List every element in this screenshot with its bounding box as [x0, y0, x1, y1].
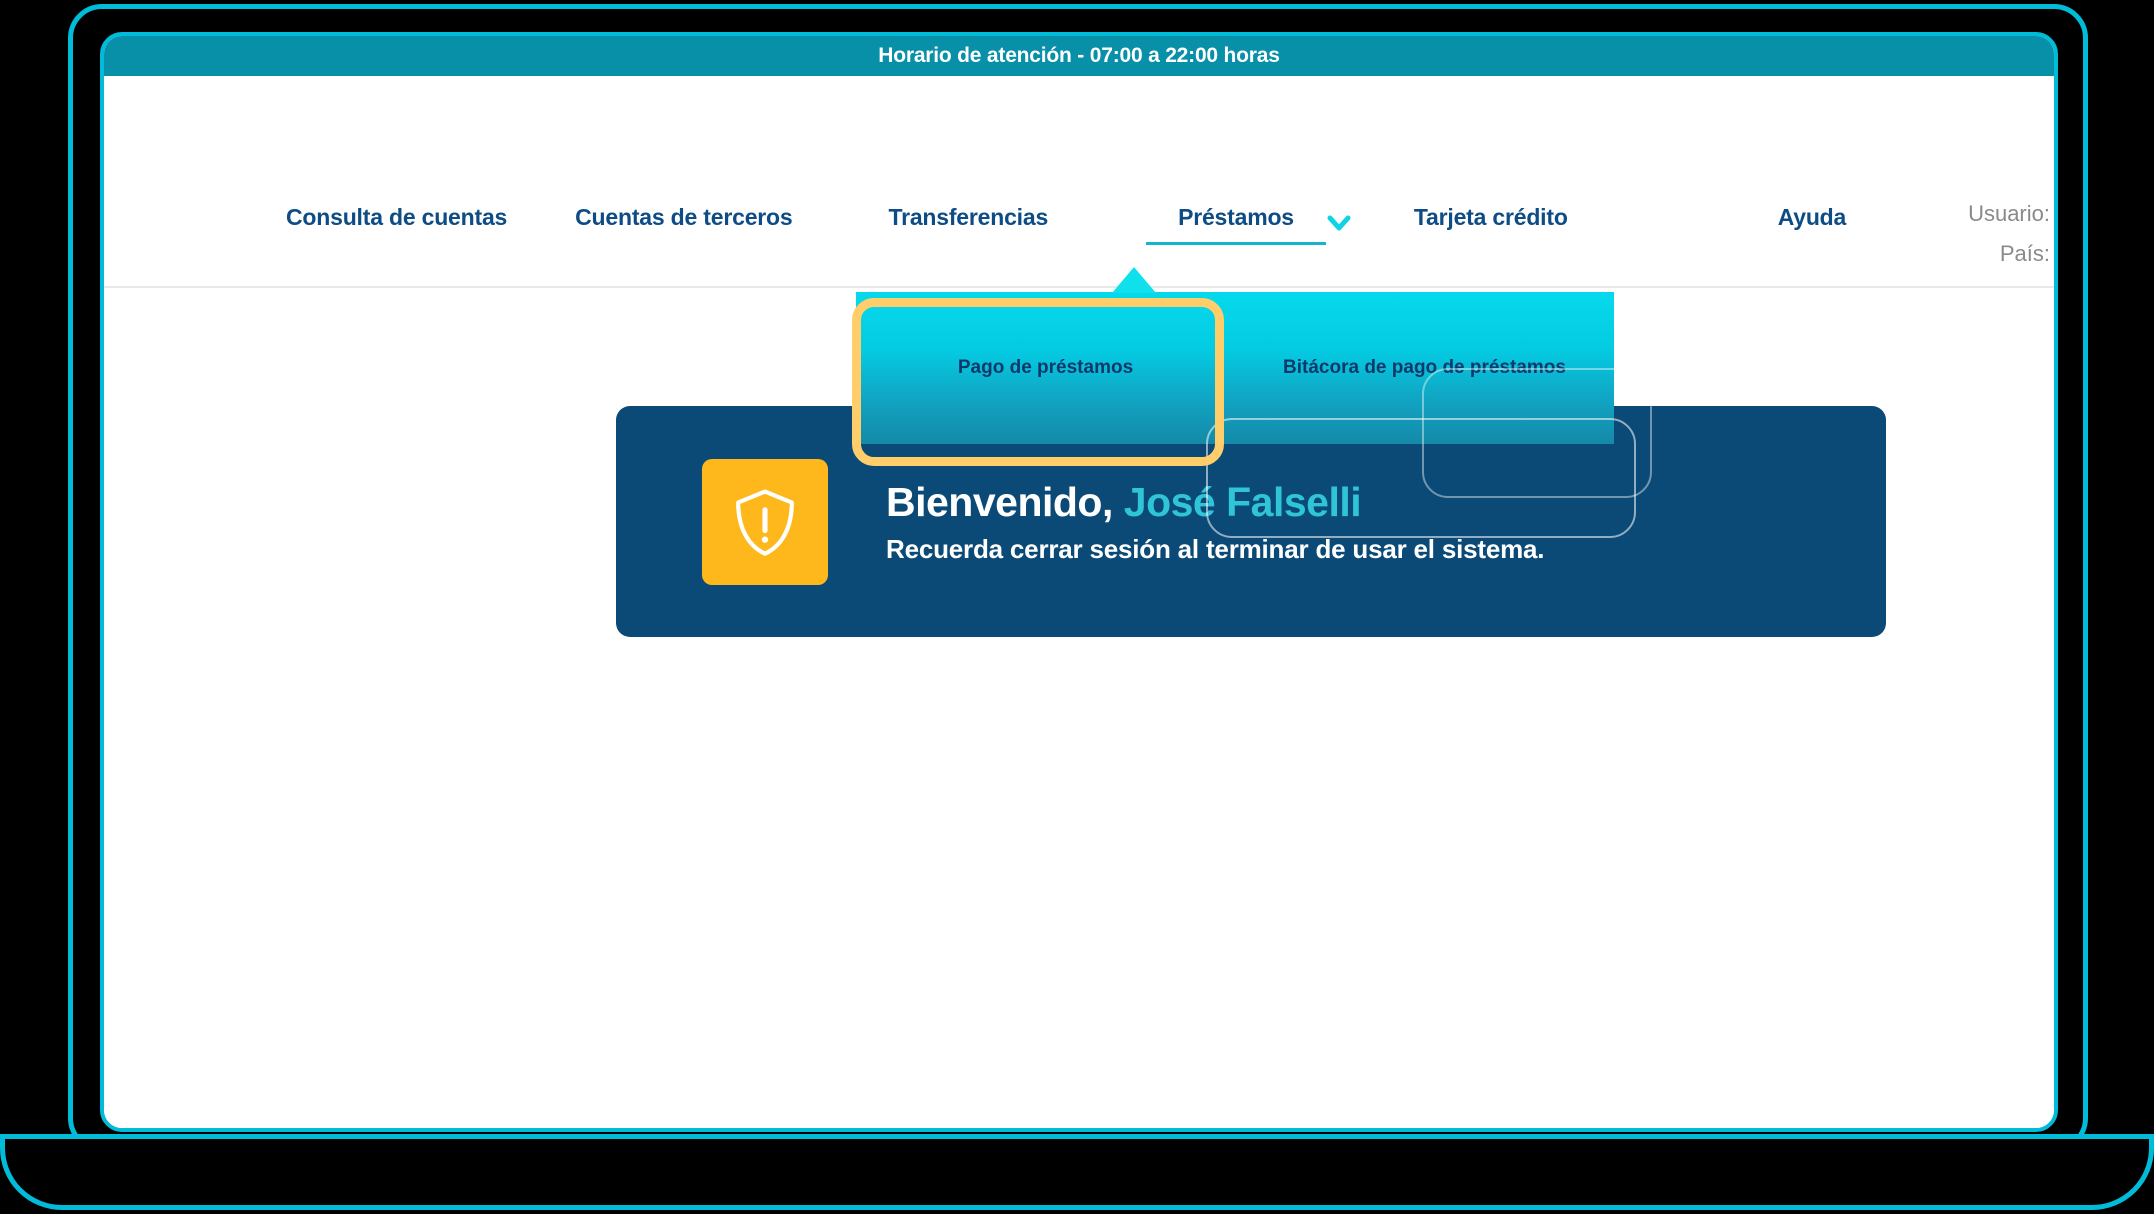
nav-item-ayuda[interactable]: Ayuda	[1778, 204, 1846, 245]
welcome-title: Bienvenido, José Falselli	[886, 479, 1544, 526]
main-navigation: Consulta de cuentas Cuentas de terceros …	[104, 76, 2054, 288]
nav-item-transferencias[interactable]: Transferencias	[888, 204, 1048, 245]
nav-item-tarjeta-credito[interactable]: Tarjeta crédito	[1414, 204, 1568, 245]
user-info: Usuario: País:	[1968, 194, 2050, 274]
schedule-banner: Horario de atención - 07:00 a 22:00 hora…	[104, 36, 2054, 76]
usuario-label: Usuario:	[1968, 194, 2050, 234]
nav-item-list: Consulta de cuentas Cuentas de terceros …	[104, 204, 1984, 245]
dropdown-item-pago-de-prestamos[interactable]: Pago de préstamos	[856, 292, 1235, 444]
page-body: Consulta de cuentas Cuentas de terceros …	[104, 76, 2054, 1132]
dropdown-item-label: Bitácora de pago de préstamos	[1283, 357, 1566, 379]
nav-item-label: Ayuda	[1778, 204, 1846, 230]
shield-exclamation-icon	[702, 459, 828, 585]
nav-item-prestamos[interactable]: Préstamos	[1178, 204, 1294, 245]
laptop-base	[0, 1134, 2154, 1210]
nav-item-label: Consulta de cuentas	[286, 204, 507, 230]
nav-item-label: Préstamos	[1178, 204, 1294, 230]
prestamos-dropdown-menu: Pago de préstamos Bitácora de pago de pr…	[856, 292, 1614, 444]
dropdown-item-bitacora-de-pago-de-prestamos[interactable]: Bitácora de pago de préstamos	[1235, 292, 1614, 444]
welcome-subtitle: Recuerda cerrar sesión al terminar de us…	[886, 534, 1544, 565]
screen: Horario de atención - 07:00 a 22:00 hora…	[100, 32, 2058, 1132]
nav-item-consulta-de-cuentas[interactable]: Consulta de cuentas	[286, 204, 507, 245]
nav-item-cuentas-de-terceros[interactable]: Cuentas de terceros	[575, 204, 792, 245]
dropdown-caret-icon	[1112, 267, 1156, 293]
nav-item-label: Transferencias	[888, 204, 1048, 230]
chevron-down-icon[interactable]	[1326, 210, 1352, 236]
welcome-greeting: Bienvenido,	[886, 479, 1113, 525]
nav-item-label: Cuentas de terceros	[575, 204, 792, 230]
dropdown-item-label: Pago de préstamos	[958, 357, 1133, 379]
nav-item-label: Tarjeta crédito	[1414, 204, 1568, 230]
welcome-user-name: José Falselli	[1124, 479, 1361, 525]
active-nav-underline	[1146, 242, 1326, 245]
schedule-banner-text: Horario de atención - 07:00 a 22:00 hora…	[878, 44, 1279, 68]
pais-label: País:	[1968, 234, 2050, 274]
welcome-text-block: Bienvenido, José Falselli Recuerda cerra…	[886, 479, 1544, 565]
